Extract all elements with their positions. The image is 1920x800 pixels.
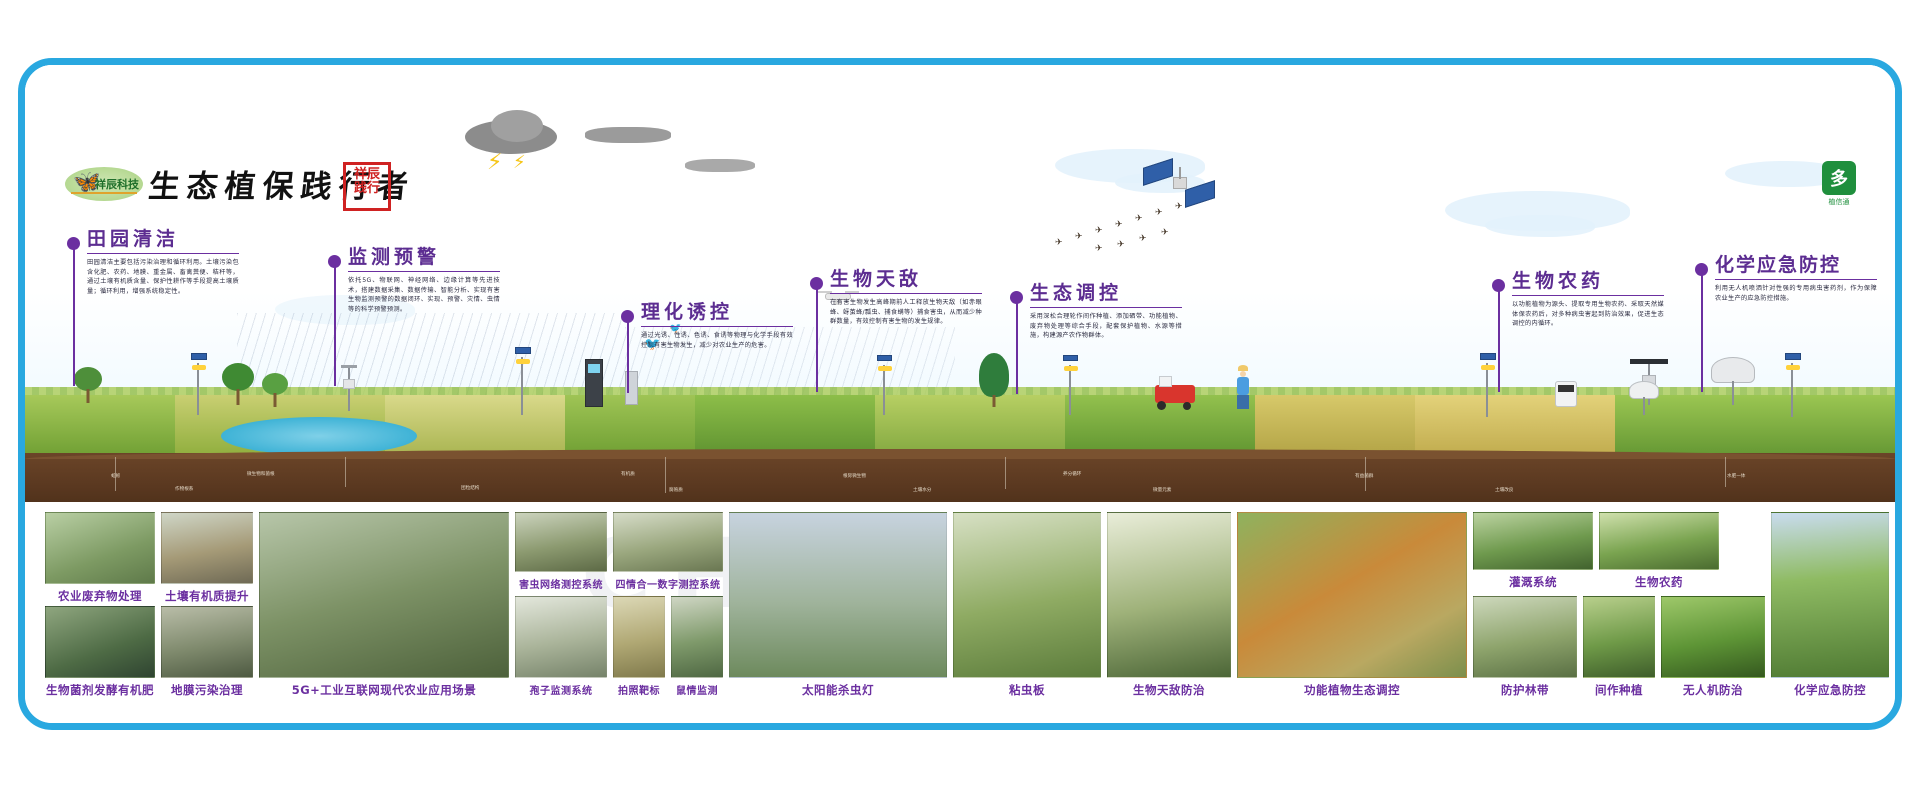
photo[interactable] [45,606,155,678]
soil-label: 根际微生物 [843,473,866,479]
info-heading: 理化诱控 [641,302,793,323]
field-strip [1615,395,1895,457]
photo-caption: 间作种植 [1579,682,1659,698]
logo-underline [71,192,137,194]
photo-caption: 地膜污染治理 [159,682,255,698]
soil-label: 腐殖质 [669,487,683,493]
soil-label: 作物根系 [175,486,193,492]
soil-label: 水肥一体 [1727,473,1745,479]
photo[interactable] [161,606,253,678]
soil-label: 蚯蚓 [111,473,120,479]
info-body: 田园清洁主要包括污染治理和循环利用。土壤污染包含化肥、农药、地膜、重金属、畜禽粪… [87,258,239,296]
heading-underline [87,253,239,254]
photo-caption: 灌溉系统 [1471,574,1595,590]
storm-cloud [491,110,543,142]
photo-caption: 5G+工业互联网现代农业应用场景 [253,682,515,698]
bird-flock: ✈ ✈ ✈ ✈ ✈ ✈ ✈ ✈ ✈ ✈ ✈ [1055,195,1245,265]
field-strip [875,395,1065,457]
soil-label: 微生物和菌根 [247,471,275,477]
photo[interactable] [953,512,1101,678]
info-heading: 生物天敌 [830,269,982,290]
photo[interactable] [613,596,665,678]
info-block-jiance-yujing: 监测预警 依托5G、物联网、神经网络、边缘计算等先进技术，搭建数据采集、数据传输… [348,247,500,314]
photo[interactable] [1473,596,1577,678]
photo[interactable] [613,512,723,572]
red-seal-stamp: 祥辰 践行 [343,162,391,211]
farmer-figure [1237,365,1249,409]
field-strip [25,395,175,457]
company-logo-badge: 🦋 祥辰科技 [65,167,143,201]
soil-label: 土壤改良 [1495,487,1513,493]
field-strip [385,395,565,457]
heading-underline [1030,307,1182,308]
soil-label: 有益菌群 [1355,473,1373,479]
illustration-scene: ⚡ ⚡ ✈ ✈ ✈ ✈ ✈ ✈ ✈ ✈ ✈ ✈ ✈ 🐦 🐦 [25,65,1895,502]
photo-gallery: CHEN 农业废弃物处理 生物菌剂发酵有机肥 土壤有机质提升 地膜污染治理 5G… [41,508,1893,727]
info-body: 通过光诱、性诱、色诱、食诱等物理与化学手段有效控制有害生物发生，减少对农业生产的… [641,331,793,350]
sky-cloud [1485,215,1595,237]
photo[interactable] [259,512,509,678]
harvester-icon [1155,385,1195,403]
photo[interactable] [1583,596,1655,678]
photo[interactable] [515,512,607,572]
company-name: 祥辰科技 [95,176,139,192]
photo-caption: 功能植物生态调控 [1237,682,1467,698]
radar-dish-icon [1629,381,1659,399]
heading-underline [348,271,500,272]
soil-label: 土壤水分 [913,487,931,493]
lightning-icon: ⚡ [487,152,502,174]
soil-label: 团粒结构 [461,485,479,491]
photo[interactable] [1473,512,1593,570]
info-body: 在有害生物发生高峰期前人工释放生物天敌（如赤眼蜂、蚜茧蜂/瓢虫、捕食螨等）捕食害… [830,298,982,327]
seal-line-2: 践行 [348,182,386,196]
info-block-shengwu-nongyao: 生物农药 以功能植物为源头、提取专用生物农药、采取天然媒体保农药后，对多种病虫害… [1512,271,1664,329]
poster-root: ⚡ ⚡ ✈ ✈ ✈ ✈ ✈ ✈ ✈ ✈ ✈ ✈ ✈ 🐦 🐦 [0,0,1920,800]
tree-icon [261,365,289,407]
partner-logo-mark: 多 [1822,161,1856,195]
lightning-icon: ⚡ [513,154,526,172]
photo-caption: 生物菌剂发酵有机肥 [39,682,161,698]
photo-caption: 害虫网络测控系统 [511,576,611,591]
info-body: 采用深松合理轮作间作种植、添加硒带、功能植物、废弃物处理等综合手段，配套保护植物… [1030,312,1182,341]
info-heading: 生态调控 [1030,283,1182,304]
pond [221,417,417,455]
info-block-huaxue-yingji-fangkong: 化学应急防控 利用无人机喷洒针对性强的专用病虫害药剂，作为保障农业生产的应急防控… [1715,255,1877,303]
partner-logo: 多 植信通 [1817,161,1861,207]
photo-caption: 拍照靶标 [607,682,671,697]
soil-label-group: 蚯蚓 作物根系 微生物和菌根 团粒结构 有机质 腐殖质 根际微生物 土壤水分 养… [25,457,1895,502]
photo[interactable] [515,596,607,678]
heading-underline [1715,279,1877,280]
info-heading: 化学应急防控 [1715,255,1877,276]
photo-caption: 鼠情监测 [667,682,727,697]
photo-caption: 太阳能杀虫灯 [729,682,947,698]
soil-label: 有机质 [621,471,635,477]
photo[interactable] [1771,512,1889,678]
heading-underline [830,293,982,294]
photo-caption: 化学应急防控 [1767,682,1893,698]
radar-dish-icon [1711,357,1755,383]
info-body: 利用无人机喷洒针对性强的专用病虫害药剂，作为保障农业生产的应急防控措施。 [1715,284,1877,303]
soil-label: 微量元素 [1153,487,1171,493]
photo[interactable] [161,512,253,584]
field-robot-icon [1555,381,1577,407]
photo[interactable] [1107,512,1231,678]
info-block-lihua-youkong: 理化诱控 通过光诱、性诱、色诱、食诱等物理与化学手段有效控制有害生物发生，减少对… [641,302,793,350]
info-body: 依托5G、物联网、神经网络、边缘计算等先进技术，搭建数据采集、数据传输、智能分析… [348,276,500,314]
photo-caption: 生物农药 [1597,574,1721,590]
grey-cloud [585,127,671,143]
photo-caption: 农业废弃物处理 [45,588,155,604]
photo-caption: 生物天敌防治 [1103,682,1235,698]
field-strip [1255,395,1415,457]
photo-caption: 防护林带 [1471,682,1579,698]
photo[interactable] [729,512,947,678]
field-strip [1415,395,1615,457]
tree-icon [221,357,255,405]
info-heading: 生物农药 [1512,271,1664,292]
seal-line-1: 祥辰 [348,168,386,182]
partner-logo-text: 植信通 [1817,197,1861,207]
info-block-tianyuan-qingjie: 田园清洁 田园清洁主要包括污染治理和循环利用。土壤污染包含化肥、农药、地膜、重金… [87,229,239,296]
info-block-shengwu-tiandi: 生物天敌 在有害生物发生高峰期前人工释放生物天敌（如赤眼蜂、蚜茧蜂/瓢虫、捕食螨… [830,269,982,327]
photo-caption: 四情合一数字测控系统 [607,576,729,591]
grey-cloud [685,159,755,172]
info-body: 以功能植物为源头、提取专用生物农药、采取天然媒体保农药后，对多种病虫害起到防治效… [1512,300,1664,329]
photo-caption: 粘虫板 [953,682,1101,698]
photo[interactable] [1661,596,1765,678]
conifer-tree-icon [977,351,1011,407]
photo[interactable] [1237,512,1467,678]
info-heading: 监测预警 [348,247,500,268]
heading-underline [641,326,793,327]
photo[interactable] [671,596,723,678]
soil-label: 养分循环 [1063,471,1081,477]
photo-caption: 土壤有机质提升 [159,588,255,604]
photo-caption: 孢子监测系统 [511,682,611,697]
photo[interactable] [45,512,155,584]
poster-frame: ⚡ ⚡ ✈ ✈ ✈ ✈ ✈ ✈ ✈ ✈ ✈ ✈ ✈ 🐦 🐦 [18,58,1902,730]
photo[interactable] [1599,512,1719,570]
photo-caption: 无人机防治 [1657,682,1769,698]
monitoring-cabinet-icon [585,359,603,407]
info-block-shengtai-tiaokong: 生态调控 采用深松合理轮作间作种植、添加硒带、功能植物、废弃物处理等综合手段，配… [1030,283,1182,341]
heading-underline [1512,295,1664,296]
field-strip [695,395,875,457]
info-heading: 田园清洁 [87,229,239,250]
tree-icon [73,361,103,403]
